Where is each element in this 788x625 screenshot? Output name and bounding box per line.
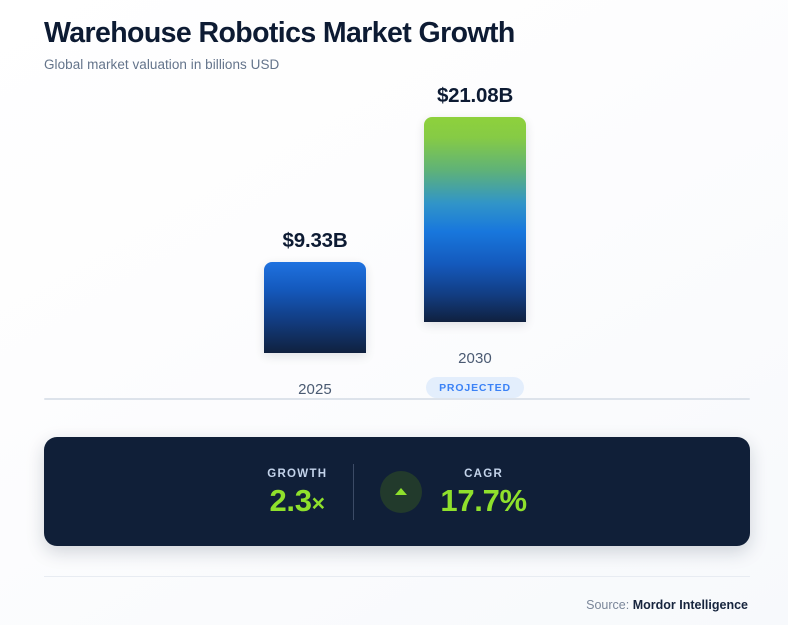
stat-cagr-label: CAGR <box>464 468 503 480</box>
stat-cagr: CAGR 17.7% <box>440 468 526 516</box>
caret-up-icon <box>395 488 407 495</box>
stat-growth-suffix: × <box>312 490 325 516</box>
projected-badge: PROJECTED <box>426 377 524 398</box>
trending-up-icon <box>380 471 422 513</box>
source-name: Mordor Intelligence <box>633 598 748 612</box>
bar-group-2025: $9.33B 2025 <box>225 0 405 398</box>
bar-chart-plot-area: $9.33B 2025 $21.08B 2030 PROJECTED <box>0 0 788 398</box>
bar-2030[interactable] <box>424 117 526 322</box>
stat-growth: GROWTH 2.3× <box>267 468 327 516</box>
bar-value-label-2025: $9.33B <box>283 229 348 253</box>
bar-value-label-2030: $21.08B <box>437 84 513 108</box>
stats-vertical-divider <box>353 464 354 520</box>
source-footer: Source: Mordor Intelligence <box>586 598 748 612</box>
stat-growth-number: 2.3 <box>269 483 311 518</box>
divider-above-footer <box>44 576 750 577</box>
stats-panel: GROWTH 2.3× CAGR 17.7% <box>44 437 750 546</box>
stat-growth-label: GROWTH <box>267 468 327 480</box>
bar-2025[interactable] <box>264 262 366 353</box>
divider-above-stats <box>44 398 750 400</box>
bar-caption-2025: 2025 <box>298 381 332 398</box>
bar-caption-2030: 2030 <box>458 350 492 367</box>
bar-group-2030: $21.08B 2030 PROJECTED <box>385 0 565 398</box>
infographic-root: Warehouse Robotics Market Growth Global … <box>0 0 788 625</box>
source-label: Source: <box>586 598 629 612</box>
stat-growth-value: 2.3× <box>269 485 325 516</box>
stat-cagr-value: 17.7% <box>440 485 526 516</box>
